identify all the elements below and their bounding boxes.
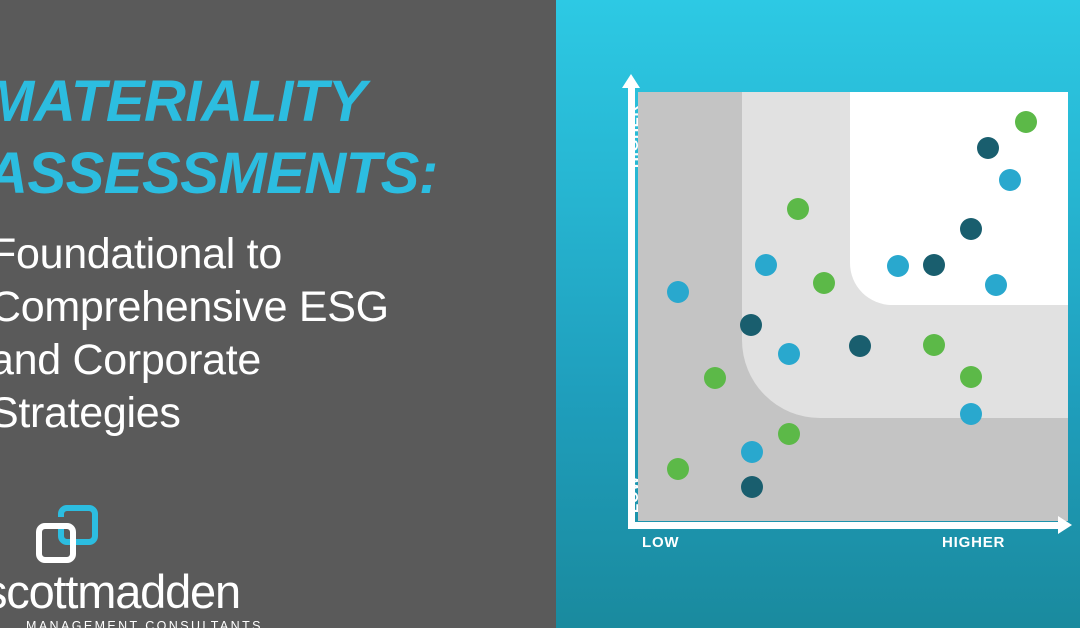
data-point-green [704,367,726,389]
title-line-1: MATERIALITY [0,66,556,138]
data-point-light-blue [667,281,689,303]
logo-wordmark: scottmadden [0,567,244,617]
subtitle-line-4: Strategies [0,387,550,440]
data-point-light-blue [741,441,763,463]
plot-area [638,92,1068,521]
data-point-dark-teal [741,476,763,498]
x-axis-label-higher: HIGHER [942,534,1005,551]
left-panel: MATERIALITY ASSESSMENTS: Foundational to… [0,0,556,628]
data-point-dark-teal [849,335,871,357]
subtitle-line-2: Comprehensive ESG [0,281,550,334]
y-axis-label-higher: HIGHER [625,105,642,168]
company-logo: scottmadden MANAGEMENT CONSULTANTS [0,505,244,628]
subtitle-line-3: and Corporate [0,334,550,387]
data-point-green [778,423,800,445]
right-panel: HIGHER LOW LOW HIGHER [556,0,1080,628]
data-point-dark-teal [960,218,982,240]
y-axis-arrow-icon [622,74,640,88]
logo-square-lower [36,523,76,563]
x-axis-arrow-icon [1058,516,1072,534]
materiality-matrix-chart: HIGHER LOW LOW HIGHER [556,0,1080,628]
data-point-dark-teal [977,137,999,159]
x-axis-label-low: LOW [642,534,679,551]
data-point-dark-teal [923,254,945,276]
data-point-green [667,458,689,480]
page-subtitle: Foundational to Comprehensive ESG and Co… [0,228,550,440]
data-point-light-blue [960,403,982,425]
logo-tagline: MANAGEMENT CONSULTANTS [26,619,244,628]
x-axis-line [628,522,1060,529]
y-axis-label-low: LOW [625,476,642,513]
data-point-green [1015,111,1037,133]
slide-canvas: MATERIALITY ASSESSMENTS: Foundational to… [0,0,1080,628]
subtitle-line-1: Foundational to [0,228,550,281]
data-point-dark-teal [740,314,762,336]
data-point-green [813,272,835,294]
page-title: MATERIALITY ASSESSMENTS: [0,66,556,210]
data-point-light-blue [755,254,777,276]
data-point-green [923,334,945,356]
title-line-2: ASSESSMENTS: [0,138,556,210]
data-point-green [960,366,982,388]
interlocking-squares-icon [36,505,102,565]
data-point-light-blue [999,169,1021,191]
data-point-green [787,198,809,220]
data-point-light-blue [778,343,800,365]
